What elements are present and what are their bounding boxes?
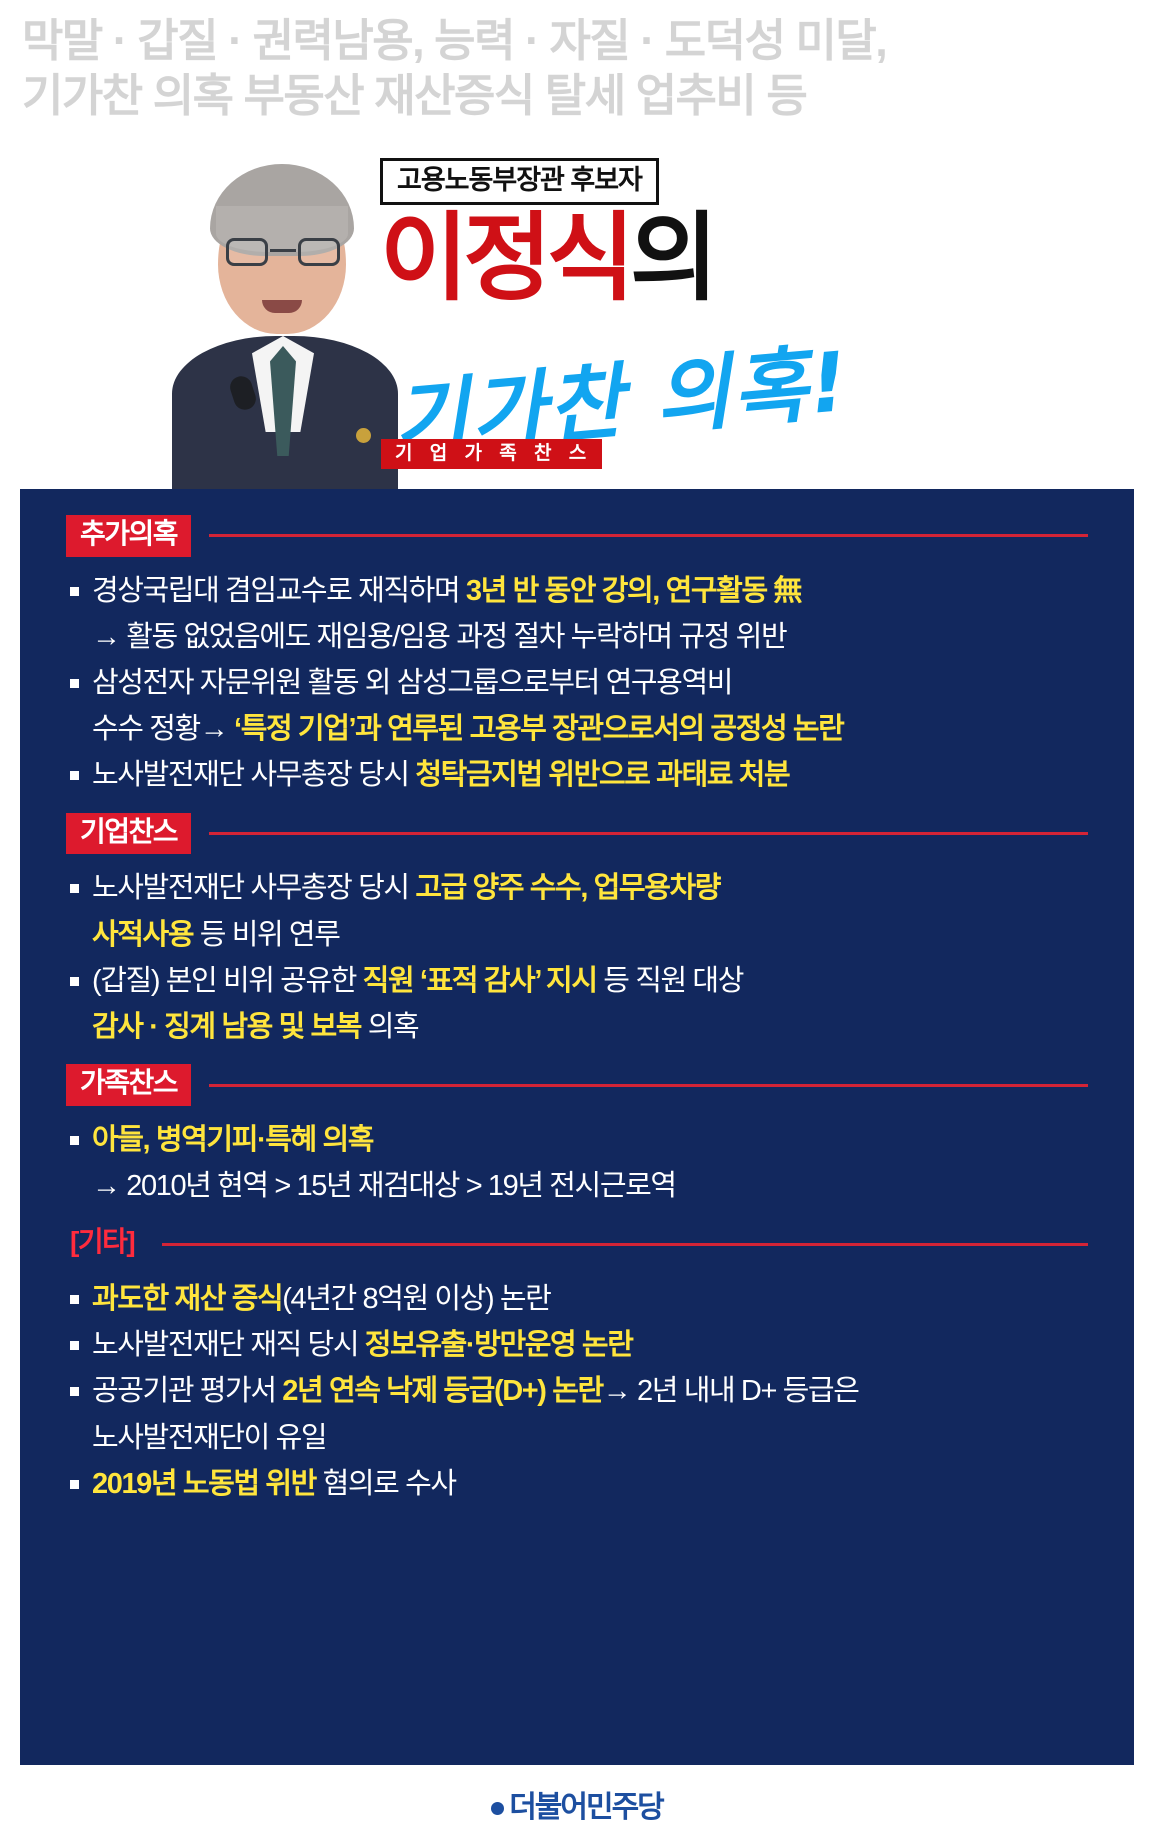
role-label: 고용노동부장관 후보자 xyxy=(380,158,659,205)
body-text: 혐의로 수사 xyxy=(316,1468,456,1500)
bullet-item: 과도한 재산 증식(4년간 8억원 이상) 논란 xyxy=(66,1279,1088,1320)
hero-text-block: 고용노동부장관 후보자 이정식의 xyxy=(380,158,1140,307)
infographic-page: 막말 · 갑질 · 권력남용, 능력 · 자질 · 도덕성 미달, 기가찬 의혹… xyxy=(0,0,1154,1843)
bullet-item: 노사발전재단 사무총장 당시 고급 양주 수수, 업무용차량 xyxy=(66,868,1088,909)
highlighted-text: 고급 양주 수수, 업무용차량 xyxy=(415,872,720,904)
watermark-line-2: 기가찬 의혹 부동산 재산증식 탈세 업추비 등 xyxy=(22,69,1132,124)
footer: 더불어민주당 xyxy=(0,1765,1154,1843)
body-text: → 2년 내내 D+ 등급은 xyxy=(603,1375,859,1407)
section-divider xyxy=(209,832,1088,835)
highlighted-text: 직원 ‘표적 감사’ 지시 xyxy=(363,965,597,997)
bullet-item: (갑질) 본인 비위 공유한 직원 ‘표적 감사’ 지시 등 직원 대상 xyxy=(66,961,1088,1002)
highlighted-text: 아들, 병역기피·특혜 의혹 xyxy=(92,1124,373,1156)
highlighted-text: 청탁금지법 위반으로 과태료 처분 xyxy=(415,759,789,791)
candidate-photo xyxy=(170,160,400,500)
section-header: 가족찬스 xyxy=(66,1064,1088,1106)
name-possessive: 의 xyxy=(630,205,713,312)
section-header: [기타] xyxy=(66,1223,1088,1265)
highlighted-text: 과도한 재산 증식 xyxy=(92,1283,282,1315)
section-header: 기업찬스 xyxy=(66,813,1088,855)
continuation-line: 수수 정황→ ‘특정 기업’과 연루된 고용부 장관으로서의 공정성 논란 xyxy=(66,709,1088,750)
body-text: 등 직원 대상 xyxy=(597,965,743,997)
section-tag: 추가의혹 xyxy=(66,515,191,557)
bullet-list: 과도한 재산 증식(4년간 8억원 이상) 논란노사발전재단 재직 당시 정보유… xyxy=(66,1279,1088,1505)
party-logo: 더불어민주당 xyxy=(491,1782,663,1826)
bullet-item: 공공기관 평가서 2년 연속 낙제 등급(D+) 논란→ 2년 내내 D+ 등급… xyxy=(66,1371,1088,1412)
watermark-headline: 막말 · 갑질 · 권력남용, 능력 · 자질 · 도덕성 미달, 기가찬 의혹… xyxy=(0,14,1154,124)
hero-section: 고용노동부장관 후보자 이정식의 기가찬 의혹! 기 업 가 족 찬 스 xyxy=(0,150,1154,495)
sections-container: 추가의혹경상국립대 겸임교수로 재직하며 3년 반 동안 강의, 연구활동 無→… xyxy=(20,489,1134,1530)
bullet-item: 아들, 병역기피·특혜 의혹 xyxy=(66,1120,1088,1161)
body-text: 노사발전재단 재직 당시 xyxy=(92,1329,365,1361)
bullet-item: 경상국립대 겸임교수로 재직하며 3년 반 동안 강의, 연구활동 無 xyxy=(66,571,1088,612)
highlighted-text: ‘특정 기업’과 연루된 고용부 장관으로서의 공정성 논란 xyxy=(234,713,843,745)
glasses-icon xyxy=(226,238,340,268)
highlighted-text: 정보유출·방만운영 논란 xyxy=(365,1329,633,1361)
bullet-list: 노사발전재단 사무총장 당시 고급 양주 수수, 업무용차량사적사용 등 비위 … xyxy=(66,868,1088,1048)
body-text: 공공기관 평가서 xyxy=(92,1375,282,1407)
watermark-line-1: 막말 · 갑질 · 권력남용, 능력 · 자질 · 도덕성 미달, xyxy=(22,14,1132,69)
lapel-pin-icon xyxy=(356,428,371,443)
continuation-line: 감사 · 징계 남용 및 보복 의혹 xyxy=(66,1007,1088,1048)
body-text: 경상국립대 겸임교수로 재직하며 xyxy=(92,575,466,607)
body-text: 삼성전자 자문위원 활동 외 삼성그룹으로부터 연구용역비 xyxy=(92,667,732,699)
body-text: 의혹 xyxy=(361,1011,418,1043)
party-name: 더불어민주당 xyxy=(509,1791,663,1824)
tagline-badge: 기 업 가 족 찬 스 xyxy=(381,439,602,469)
candidate-name: 이정식 xyxy=(380,205,630,312)
body-text: 노사발전재단 사무총장 당시 xyxy=(92,759,415,791)
bullet-item: 노사발전재단 사무총장 당시 청탁금지법 위반으로 과태료 처분 xyxy=(66,755,1088,796)
highlighted-text: 3년 반 동안 강의, 연구활동 無 xyxy=(466,575,801,607)
bullet-list: 아들, 병역기피·특혜 의혹→ 2010년 현역 > 15년 재검대상 > 19… xyxy=(66,1120,1088,1207)
party-dot-icon xyxy=(491,1802,504,1815)
section-divider xyxy=(209,534,1088,537)
body-text: (4년간 8억원 이상) 논란 xyxy=(282,1283,550,1315)
highlighted-text: 사적사용 xyxy=(92,919,193,951)
highlighted-text: 감사 · 징계 남용 및 보복 xyxy=(92,1011,361,1043)
body-text: → 활동 없었음에도 재임용/임용 과정 절차 누락하며 규정 위반 xyxy=(92,621,786,653)
sub-item: → 활동 없었음에도 재임용/임용 과정 절차 누락하며 규정 위반 xyxy=(66,617,1088,658)
section-divider xyxy=(209,1084,1088,1087)
section-tag: 기업찬스 xyxy=(66,813,191,855)
section-header: 추가의혹 xyxy=(66,515,1088,557)
content-panel: 추가의혹경상국립대 겸임교수로 재직하며 3년 반 동안 강의, 연구활동 無→… xyxy=(20,489,1134,1765)
body-text: 수수 정황→ xyxy=(92,713,234,745)
bullet-item: 2019년 노동법 위반 혐의로 수사 xyxy=(66,1464,1088,1505)
section-tag: [기타] xyxy=(66,1223,144,1265)
sub-item: → 2010년 현역 > 15년 재검대상 > 19년 전시근로역 xyxy=(66,1166,1088,1207)
continuation-line: 사적사용 등 비위 연루 xyxy=(66,915,1088,956)
body-text: 등 비위 연루 xyxy=(193,919,339,951)
bullet-item: 삼성전자 자문위원 활동 외 삼성그룹으로부터 연구용역비 xyxy=(66,663,1088,704)
body-text: → 2010년 현역 > 15년 재검대상 > 19년 전시근로역 xyxy=(92,1170,676,1202)
section-tag: 가족찬스 xyxy=(66,1064,191,1106)
body-text: 노사발전재단 사무총장 당시 xyxy=(92,872,415,904)
body-text: (갑질) 본인 비위 공유한 xyxy=(92,965,363,997)
continuation-line: 노사발전재단이 유일 xyxy=(66,1418,1088,1459)
candidate-name-line: 이정식의 xyxy=(380,211,1140,307)
section-divider xyxy=(162,1243,1088,1246)
highlighted-text: 2년 연속 낙제 등급(D+) 논란 xyxy=(282,1375,602,1407)
bullet-list: 경상국립대 겸임교수로 재직하며 3년 반 동안 강의, 연구활동 無→ 활동 … xyxy=(66,571,1088,797)
bullet-item: 노사발전재단 재직 당시 정보유출·방만운영 논란 xyxy=(66,1325,1088,1366)
highlighted-text: 2019년 노동법 위반 xyxy=(92,1468,316,1500)
body-text: 노사발전재단이 유일 xyxy=(92,1422,326,1454)
